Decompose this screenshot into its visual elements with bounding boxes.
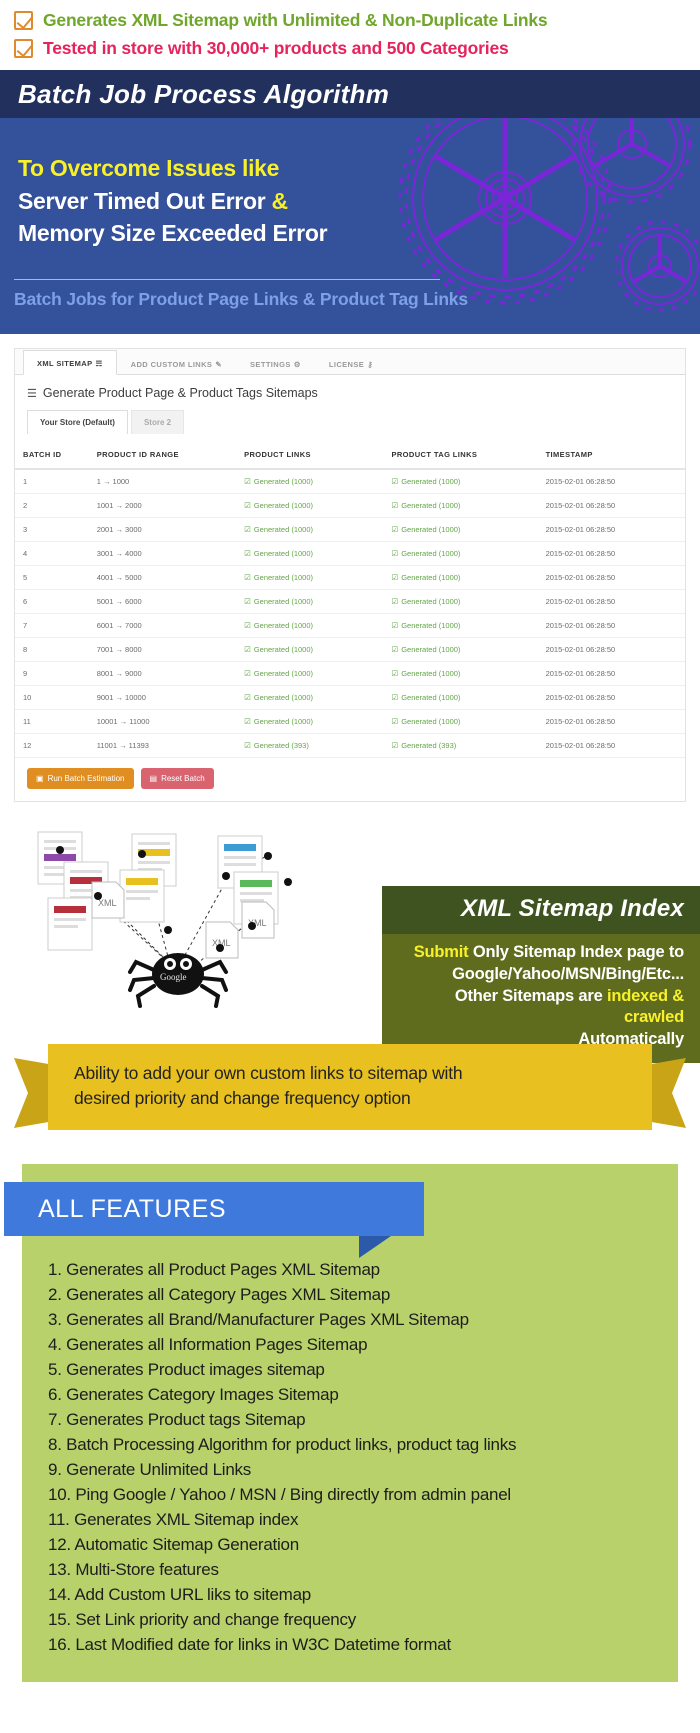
spider-brand-label: Google [160, 972, 187, 982]
table-row: 109001 → 10000☑Generated (1000)☑Generate… [15, 686, 685, 710]
banner-line-1: To Overcome Issues like [18, 152, 700, 185]
cell-product-tag-links: ☑Generated (1000) [383, 469, 537, 494]
store-selector: Your Store (Default) Store 2 [15, 409, 685, 433]
th-product-id-range: PRODUCT ID RANGE [89, 441, 236, 469]
cell-text: Generated (1000) [254, 525, 313, 534]
check-square-icon: ☑ [391, 717, 398, 726]
admin-panel-screenshot: XML SITEMAP☴ ADD CUSTOM LINKS✎ SETTINGS⚙… [14, 348, 686, 802]
cell-product-tag-links: ☑Generated (393) [383, 734, 537, 758]
th-product-tag-links: PRODUCT TAG LINKS [383, 441, 537, 469]
cell-product-id-range: 4001 → 5000 [89, 566, 236, 590]
th-product-links: PRODUCT LINKS [236, 441, 383, 469]
ribbon-body: Ability to add your own custom links to … [48, 1044, 652, 1130]
admin-tab-bar: XML SITEMAP☴ ADD CUSTOM LINKS✎ SETTINGS⚙… [15, 349, 685, 375]
all-features-section: ALL FEATURES 1. Generates all Product Pa… [22, 1164, 678, 1682]
submit-highlight: Submit [414, 943, 469, 961]
sitemap-icon: ☴ [96, 359, 103, 368]
sitemap-index-line-3-pre: Other Sitemaps are [455, 987, 607, 1005]
cell-product-links: ☑Generated (393) [236, 734, 383, 758]
cell-product-links: ☑Generated (1000) [236, 662, 383, 686]
store-tab-label: Store 2 [144, 418, 171, 427]
cell-batch-id: 11 [15, 710, 89, 734]
cell-product-tag-links: ☑Generated (1000) [383, 590, 537, 614]
tab-label: LICENSE [329, 360, 364, 369]
page-title: Generate Product Page & Product Tags Sit… [43, 386, 318, 400]
feature-item: 5. Generates Product images sitemap [48, 1358, 652, 1383]
feature-item: 4. Generates all Information Pages Sitem… [48, 1333, 652, 1358]
sitemap-index-section: XML XML XML Google [0, 814, 700, 1026]
cell-product-tag-links: ☑Generated (1000) [383, 662, 537, 686]
cell-text: Generated (1000) [401, 717, 460, 726]
ribbon-line-1: Ability to add your own custom links to … [74, 1061, 626, 1086]
cell-product-id-range: 6001 → 7000 [89, 614, 236, 638]
feature-item: 15. Set Link priority and change frequen… [48, 1608, 652, 1633]
sitemap-index-line-3: Other Sitemaps are indexed & crawled [398, 986, 684, 1030]
table-row: 98001 → 9000☑Generated (1000)☑Generated … [15, 662, 685, 686]
cell-timestamp: 2015-02-01 06:28:50 [538, 494, 685, 518]
table-row: 1110001 → 11000☑Generated (1000)☑Generat… [15, 710, 685, 734]
cell-text: Generated (393) [401, 741, 456, 750]
highlight-line: Generates XML Sitemap with Unlimited & N… [14, 6, 700, 34]
table-row: 54001 → 5000☑Generated (1000)☑Generated … [15, 566, 685, 590]
sitemap-crawl-diagram: XML XML XML Google [20, 814, 330, 1014]
cell-timestamp: 2015-02-01 06:28:50 [538, 686, 685, 710]
banner-line-2: Server Timed Out Error & [18, 185, 700, 218]
cell-batch-id: 7 [15, 614, 89, 638]
cell-text: Generated (1000) [401, 645, 460, 654]
feature-item: 10. Ping Google / Yahoo / MSN / Bing dir… [48, 1483, 652, 1508]
cell-batch-id: 8 [15, 638, 89, 662]
check-square-icon: ☑ [391, 669, 398, 678]
sitemap-index-line-1-rest: Only Sitemap Index page to [468, 943, 684, 961]
checkbox-checked-icon [14, 39, 33, 58]
cell-product-tag-links: ☑Generated (1000) [383, 566, 537, 590]
check-square-icon: ☑ [244, 525, 251, 534]
features-banner: ALL FEATURES [22, 1164, 678, 1256]
reset-batch-button[interactable]: ▤ Reset Batch [141, 768, 214, 789]
table-header-row: BATCH ID PRODUCT ID RANGE PRODUCT LINKS … [15, 441, 685, 469]
feature-item: 6. Generates Category Images Sitemap [48, 1383, 652, 1408]
cell-product-links: ☑Generated (1000) [236, 686, 383, 710]
cell-timestamp: 2015-02-01 06:28:50 [538, 590, 685, 614]
check-square-icon: ☑ [391, 621, 398, 630]
list-icon: ☰ [27, 387, 37, 400]
check-square-icon: ☑ [244, 693, 251, 702]
run-batch-estimation-button[interactable]: ▣ Run Batch Estimation [27, 768, 134, 789]
cell-product-tag-links: ☑Generated (1000) [383, 614, 537, 638]
cell-text: Generated (1000) [401, 621, 460, 630]
cell-timestamp: 2015-02-01 06:28:50 [538, 542, 685, 566]
cell-product-id-range: 1 → 1000 [89, 469, 236, 494]
feature-item: 14. Add Custom URL liks to sitemap [48, 1583, 652, 1608]
highlight-line: Tested in store with 30,000+ products an… [14, 34, 700, 62]
cell-batch-id: 4 [15, 542, 89, 566]
cell-product-links: ☑Generated (1000) [236, 469, 383, 494]
cell-text: Generated (1000) [401, 549, 460, 558]
check-square-icon: ☑ [244, 741, 251, 750]
cell-product-links: ☑Generated (1000) [236, 518, 383, 542]
custom-links-ribbon: Ability to add your own custom links to … [0, 1032, 700, 1146]
cell-batch-id: 10 [15, 686, 89, 710]
banner-title: Batch Job Process Algorithm [18, 79, 389, 110]
cell-product-links: ☑Generated (1000) [236, 494, 383, 518]
feature-item: 1. Generates all Product Pages XML Sitem… [48, 1258, 652, 1283]
table-row: 21001 → 2000☑Generated (1000)☑Generated … [15, 494, 685, 518]
batch-table-body: 11 → 1000☑Generated (1000)☑Generated (10… [15, 469, 685, 758]
top-highlights: Generates XML Sitemap with Unlimited & N… [0, 0, 700, 70]
cell-text: Generated (1000) [254, 645, 313, 654]
feature-item: 16. Last Modified date for links in W3C … [48, 1633, 652, 1658]
banner-divider [14, 279, 440, 280]
trash-icon: ▤ [150, 774, 158, 783]
sitemap-index-title: XML Sitemap Index [461, 895, 684, 922]
cell-product-id-range: 2001 → 3000 [89, 518, 236, 542]
check-square-icon: ☑ [391, 573, 398, 582]
cell-product-id-range: 7001 → 8000 [89, 638, 236, 662]
cell-product-id-range: 11001 → 11393 [89, 734, 236, 758]
check-square-icon: ☑ [244, 717, 251, 726]
cell-text: Generated (1000) [401, 597, 460, 606]
cell-timestamp: 2015-02-01 06:28:50 [538, 614, 685, 638]
cell-text: Generated (1000) [401, 501, 460, 510]
check-square-icon: ☑ [391, 693, 398, 702]
tab-label: SETTINGS [250, 360, 291, 369]
features-list: 1. Generates all Product Pages XML Sitem… [22, 1256, 678, 1658]
table-row: 87001 → 8000☑Generated (1000)☑Generated … [15, 638, 685, 662]
cell-text: Generated (1000) [254, 621, 313, 630]
table-row: 65001 → 6000☑Generated (1000)☑Generated … [15, 590, 685, 614]
cell-timestamp: 2015-02-01 06:28:50 [538, 662, 685, 686]
check-square-icon: ☑ [244, 621, 251, 630]
store-tab-default[interactable]: Your Store (Default) [27, 410, 128, 434]
button-label: Reset Batch [161, 774, 205, 783]
feature-item: 11. Generates XML Sitemap index [48, 1508, 652, 1533]
ribbon-line-2: desired priority and change frequency op… [74, 1086, 626, 1111]
cell-text: Generated (1000) [401, 477, 460, 486]
cell-product-id-range: 1001 → 2000 [89, 494, 236, 518]
cell-product-tag-links: ☑Generated (1000) [383, 494, 537, 518]
check-square-icon: ☑ [244, 573, 251, 582]
check-square-icon: ☑ [244, 501, 251, 510]
gear-icon: ⚙ [294, 360, 301, 369]
cell-text: Generated (1000) [401, 669, 460, 678]
panel-heading: ☰ Generate Product Page & Product Tags S… [15, 375, 685, 409]
cell-text: Generated (1000) [401, 693, 460, 702]
store-tab-store-2[interactable]: Store 2 [131, 410, 184, 434]
cell-text: Generated (1000) [401, 573, 460, 582]
check-square-icon: ☑ [391, 501, 398, 510]
cell-timestamp: 2015-02-01 06:28:50 [538, 734, 685, 758]
feature-item: 8. Batch Processing Algorithm for produc… [48, 1433, 652, 1458]
check-square-icon: ☑ [244, 597, 251, 606]
cell-timestamp: 2015-02-01 06:28:50 [538, 518, 685, 542]
cell-batch-id: 6 [15, 590, 89, 614]
admin-action-bar: ▣ Run Batch Estimation ▤ Reset Batch [15, 758, 685, 801]
feature-item: 13. Multi-Store features [48, 1558, 652, 1583]
tab-xml-sitemap[interactable]: XML SITEMAP☴ [23, 350, 117, 375]
cell-product-id-range: 8001 → 9000 [89, 662, 236, 686]
check-square-icon: ☑ [391, 525, 398, 534]
table-row: 32001 → 3000☑Generated (1000)☑Generated … [15, 518, 685, 542]
cell-batch-id: 2 [15, 494, 89, 518]
tab-settings[interactable]: SETTINGS⚙ [236, 351, 315, 375]
sitemap-index-line-2: Google/Yahoo/MSN/Bing/Etc... [398, 964, 684, 986]
feature-item: 7. Generates Product tags Sitemap [48, 1408, 652, 1433]
cell-product-id-range: 10001 → 11000 [89, 710, 236, 734]
feature-item: 9. Generate Unlimited Links [48, 1458, 652, 1483]
th-timestamp: TIMESTAMP [538, 441, 685, 469]
cell-text: Generated (1000) [254, 693, 313, 702]
cell-batch-id: 9 [15, 662, 89, 686]
cell-batch-id: 3 [15, 518, 89, 542]
camera-icon: ▣ [36, 774, 44, 783]
cell-timestamp: 2015-02-01 06:28:50 [538, 710, 685, 734]
highlight-text: Generates XML Sitemap with Unlimited & N… [43, 10, 547, 31]
banner-line-2-text: Server Timed Out Error [18, 188, 271, 214]
th-batch-id: BATCH ID [15, 441, 89, 469]
table-row: 43001 → 4000☑Generated (1000)☑Generated … [15, 542, 685, 566]
cell-product-links: ☑Generated (1000) [236, 566, 383, 590]
cell-product-links: ☑Generated (1000) [236, 638, 383, 662]
cell-text: Generated (1000) [254, 549, 313, 558]
cell-text: Generated (1000) [254, 573, 313, 582]
feature-item: 2. Generates all Category Pages XML Site… [48, 1283, 652, 1308]
store-tab-label: Your Store (Default) [40, 418, 115, 427]
check-square-icon: ☑ [244, 645, 251, 654]
xml-file-label: XML [98, 898, 117, 908]
cell-product-tag-links: ☑Generated (1000) [383, 518, 537, 542]
batch-table: BATCH ID PRODUCT ID RANGE PRODUCT LINKS … [15, 441, 685, 758]
ribbon-fold-icon [359, 1236, 391, 1258]
features-heading: ALL FEATURES [38, 1195, 226, 1224]
cell-text: Generated (1000) [254, 477, 313, 486]
table-row: 11 → 1000☑Generated (1000)☑Generated (10… [15, 469, 685, 494]
check-square-icon: ☑ [244, 477, 251, 486]
cell-product-links: ☑Generated (1000) [236, 590, 383, 614]
cell-text: Generated (1000) [254, 597, 313, 606]
cell-batch-id: 1 [15, 469, 89, 494]
cell-text: Generated (1000) [254, 717, 313, 726]
banner-body: To Overcome Issues like Server Timed Out… [0, 118, 700, 250]
banner-subtitle: Batch Jobs for Product Page Links & Prod… [14, 289, 468, 310]
cell-timestamp: 2015-02-01 06:28:50 [538, 469, 685, 494]
cell-product-id-range: 5001 → 6000 [89, 590, 236, 614]
table-row: 76001 → 7000☑Generated (1000)☑Generated … [15, 614, 685, 638]
cell-product-links: ☑Generated (1000) [236, 614, 383, 638]
highlight-text: Tested in store with 30,000+ products an… [43, 38, 509, 59]
check-square-icon: ☑ [391, 741, 398, 750]
cell-product-id-range: 9001 → 10000 [89, 686, 236, 710]
features-title-band: ALL FEATURES [4, 1182, 424, 1236]
table-row: 1211001 → 11393☑Generated (393)☑Generate… [15, 734, 685, 758]
check-square-icon: ☑ [391, 597, 398, 606]
banner-title-bar: Batch Job Process Algorithm [0, 70, 700, 118]
cell-text: Generated (1000) [254, 501, 313, 510]
cell-product-tag-links: ☑Generated (1000) [383, 710, 537, 734]
tab-label: XML SITEMAP [37, 359, 93, 368]
cell-text: Generated (1000) [254, 669, 313, 678]
cell-text: Generated (1000) [401, 525, 460, 534]
banner-line-3: Memory Size Exceeded Error [18, 217, 700, 250]
check-square-icon: ☑ [244, 669, 251, 678]
sitemap-index-header: XML Sitemap Index [382, 886, 700, 934]
tab-add-custom-links[interactable]: ADD CUSTOM LINKS✎ [117, 351, 236, 375]
check-square-icon: ☑ [391, 477, 398, 486]
tab-label: ADD CUSTOM LINKS [131, 360, 213, 369]
check-square-icon: ☑ [391, 645, 398, 654]
cell-product-tag-links: ☑Generated (1000) [383, 638, 537, 662]
cell-text: Generated (393) [254, 741, 309, 750]
cell-product-tag-links: ☑Generated (1000) [383, 542, 537, 566]
check-square-icon: ☑ [244, 549, 251, 558]
cell-timestamp: 2015-02-01 06:28:50 [538, 566, 685, 590]
batch-job-banner: Batch Job Process Algorithm To Overcome … [0, 70, 700, 334]
cell-batch-id: 12 [15, 734, 89, 758]
cell-product-tag-links: ☑Generated (1000) [383, 686, 537, 710]
checkbox-checked-icon [14, 11, 33, 30]
link-icon: ✎ [215, 360, 222, 369]
cell-batch-id: 5 [15, 566, 89, 590]
cell-product-links: ☑Generated (1000) [236, 710, 383, 734]
button-label: Run Batch Estimation [48, 774, 125, 783]
cell-timestamp: 2015-02-01 06:28:50 [538, 638, 685, 662]
tab-license[interactable]: LICENSE⚷ [315, 351, 387, 375]
cell-product-id-range: 3001 → 4000 [89, 542, 236, 566]
feature-item: 12. Automatic Sitemap Generation [48, 1533, 652, 1558]
banner-line-2-amp: & [271, 188, 287, 214]
check-square-icon: ☑ [391, 549, 398, 558]
cell-product-links: ☑Generated (1000) [236, 542, 383, 566]
indexed-crawled-highlight: indexed & crawled [607, 987, 684, 1027]
key-icon: ⚷ [367, 360, 373, 369]
feature-item: 3. Generates all Brand/Manufacturer Page… [48, 1308, 652, 1333]
sitemap-index-line-1: Submit Only Sitemap Index page to [398, 942, 684, 964]
